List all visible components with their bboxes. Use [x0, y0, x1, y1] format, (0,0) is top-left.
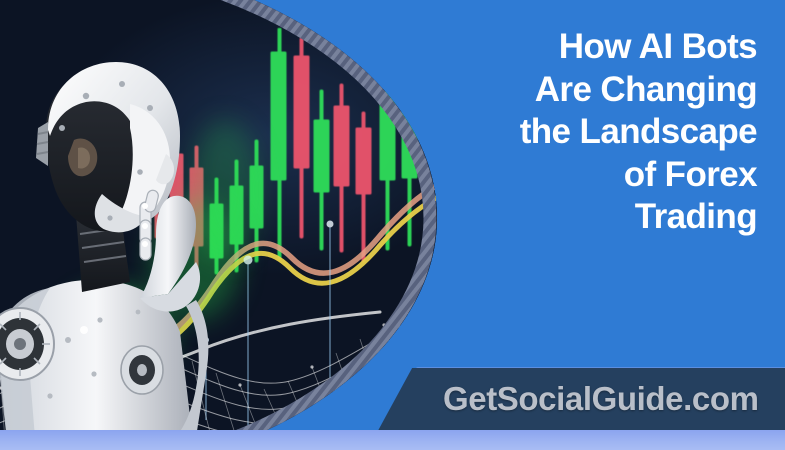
site-name[interactable]: GetSocialGuide.com [443, 380, 759, 418]
headline: How AI Bots Are Changing the Landscape o… [427, 26, 757, 239]
banner-canvas: How AI Bots Are Changing the Landscape o… [0, 0, 785, 450]
robot-figure [0, 44, 240, 450]
hero-artwork-circle-mask [0, 0, 440, 450]
bottom-strip [0, 430, 785, 450]
hero-artwork [0, 0, 440, 450]
